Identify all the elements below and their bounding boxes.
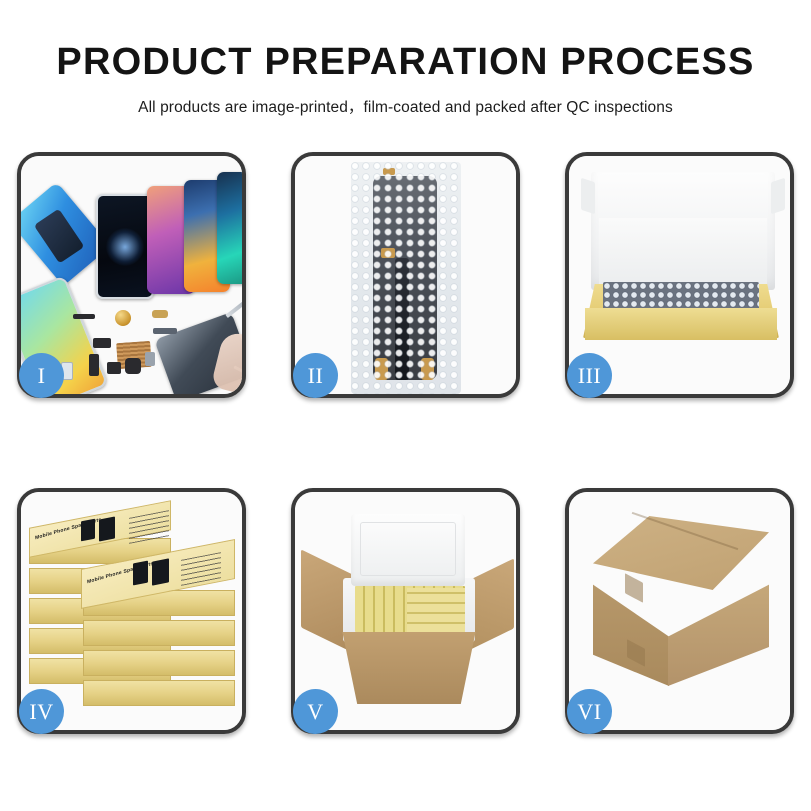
page-header: PRODUCT PREPARATION PROCESS All products… xyxy=(0,0,811,117)
screwdriver-icon xyxy=(225,294,242,318)
process-step-panel-2[interactable]: II xyxy=(291,152,520,398)
page-subtitle: All products are image-printed，film-coat… xyxy=(0,95,811,117)
carton-tape-upper xyxy=(625,573,643,603)
speaker-part xyxy=(125,358,141,374)
gold-box-10 xyxy=(83,680,235,706)
box-artwork-thumb-3 xyxy=(133,561,148,586)
step-badge-6: VI xyxy=(567,689,612,734)
box-artwork-thumb-4 xyxy=(152,558,169,585)
small-component-1 xyxy=(93,338,111,348)
box-artwork-thumb-2 xyxy=(99,516,115,541)
battery-part xyxy=(145,352,155,366)
process-step-panel-4[interactable]: Mobile Phone Spare Parts Mobile Phone Sp… xyxy=(17,488,246,734)
step-badge-1: I xyxy=(19,353,64,398)
small-component-3 xyxy=(107,362,121,374)
process-step-panel-1[interactable]: I xyxy=(17,152,246,398)
packed-gold-boxes-row2 xyxy=(407,588,465,632)
carton-top-face xyxy=(593,516,769,590)
foam-box-lid xyxy=(351,514,465,586)
process-step-panel-6[interactable]: VI xyxy=(565,488,794,734)
process-steps-grid: I II III xyxy=(17,152,795,734)
box-artwork-thumb-1 xyxy=(81,519,95,542)
gold-box-8 xyxy=(83,620,235,646)
gold-box-front xyxy=(585,308,777,340)
process-step-panel-3[interactable]: III xyxy=(565,152,794,398)
connector-part xyxy=(152,310,168,318)
phone-screen-cracked xyxy=(96,194,154,299)
step-badge-4: IV xyxy=(19,689,64,734)
bubble-wrap-bag xyxy=(351,162,461,394)
page-title: PRODUCT PREPARATION PROCESS xyxy=(0,43,811,83)
step-badge-3: III xyxy=(567,353,612,398)
gold-box-9 xyxy=(83,650,235,676)
phone-screen-teal xyxy=(217,172,242,284)
foam-insert xyxy=(599,218,767,284)
camera-lens-part xyxy=(115,310,131,326)
flex-cable-part xyxy=(73,314,95,319)
small-component-2 xyxy=(89,354,99,376)
ribbon-part xyxy=(153,328,177,334)
bubble-texture xyxy=(351,162,461,394)
carton-body xyxy=(335,632,483,704)
step-badge-2: II xyxy=(293,353,338,398)
process-step-panel-5[interactable]: V xyxy=(291,488,520,734)
step-badge-5: V xyxy=(293,689,338,734)
